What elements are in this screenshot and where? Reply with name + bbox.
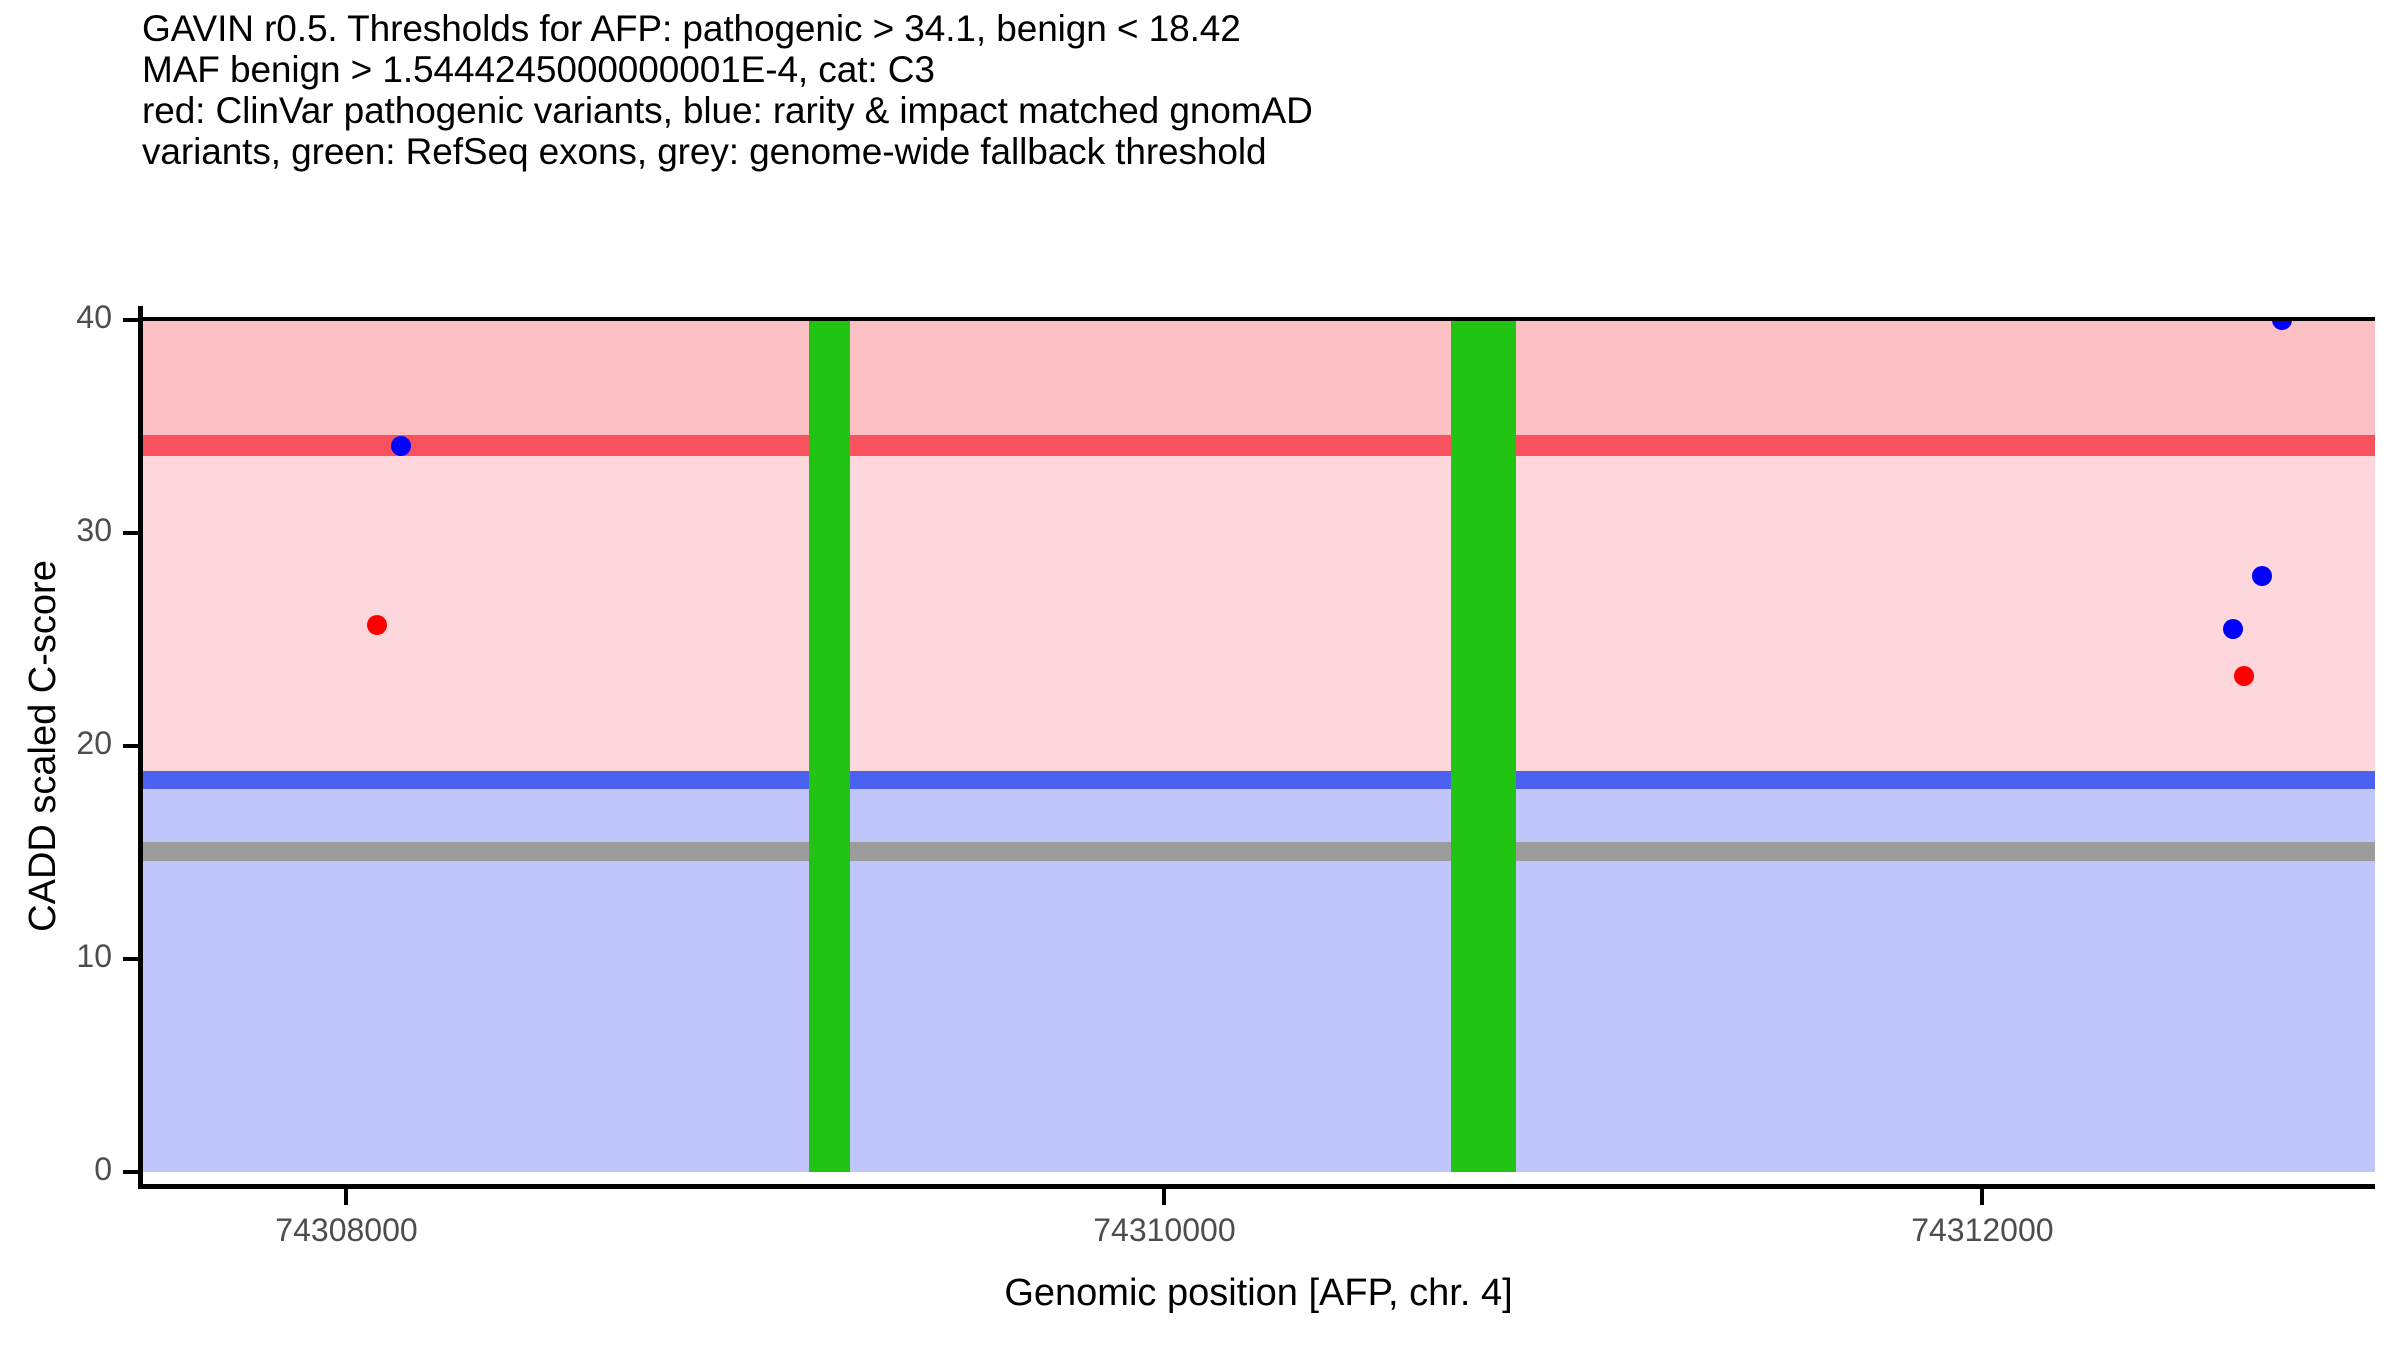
y-axis-title: CADD scaled C-score (22, 320, 65, 1172)
y-tick-20 (123, 744, 139, 748)
x-tick-74308000 (344, 1189, 348, 1205)
data-point-clinvar-0 (367, 615, 387, 635)
y-tick-10 (123, 957, 139, 961)
band-genome-wide-fallback-line (142, 842, 2375, 861)
x-axis-title: Genomic position [AFP, chr. 4] (142, 1272, 2375, 1315)
y-tick-40 (123, 318, 139, 322)
x-tick-label-74312000: 74312000 (1911, 1212, 2053, 1249)
y-tick-label-10: 10 (76, 938, 112, 975)
y-tick-label-30: 30 (76, 512, 112, 549)
panel-top-border (142, 317, 2375, 321)
y-tick-label-20: 20 (76, 725, 112, 762)
y-tick-label-0: 0 (94, 1151, 112, 1188)
exon-bar-exon-1 (809, 320, 850, 1172)
y-tick-30 (123, 531, 139, 535)
exon-bar-exon-2 (1451, 320, 1516, 1172)
data-point-gnomad-2 (2252, 566, 2272, 586)
scatter-chart: 010203040743080007431000074312000 CADD s… (0, 0, 2400, 1350)
x-tick-74310000 (1162, 1189, 1166, 1205)
y-tick-0 (123, 1170, 139, 1174)
band-benign-zone-lower (142, 861, 2375, 1172)
plot-panel (142, 320, 2375, 1172)
x-tick-label-74308000: 74308000 (275, 1212, 417, 1249)
data-point-clinvar-1 (2234, 666, 2254, 686)
band-pathogenic-zone (142, 320, 2375, 446)
data-point-gnomad-0 (391, 436, 411, 456)
x-tick-label-74310000: 74310000 (1093, 1212, 1235, 1249)
x-axis-line (138, 1184, 2375, 1189)
data-point-gnomad-3 (2223, 619, 2243, 639)
band-vous-zone (142, 456, 2375, 779)
band-benign-zone-upper (142, 789, 2375, 841)
band-benign-threshold-line (142, 771, 2375, 789)
x-tick-74312000 (1980, 1189, 1984, 1205)
y-tick-label-40: 40 (76, 299, 112, 336)
band-pathogenic-threshold-line (142, 435, 2375, 456)
